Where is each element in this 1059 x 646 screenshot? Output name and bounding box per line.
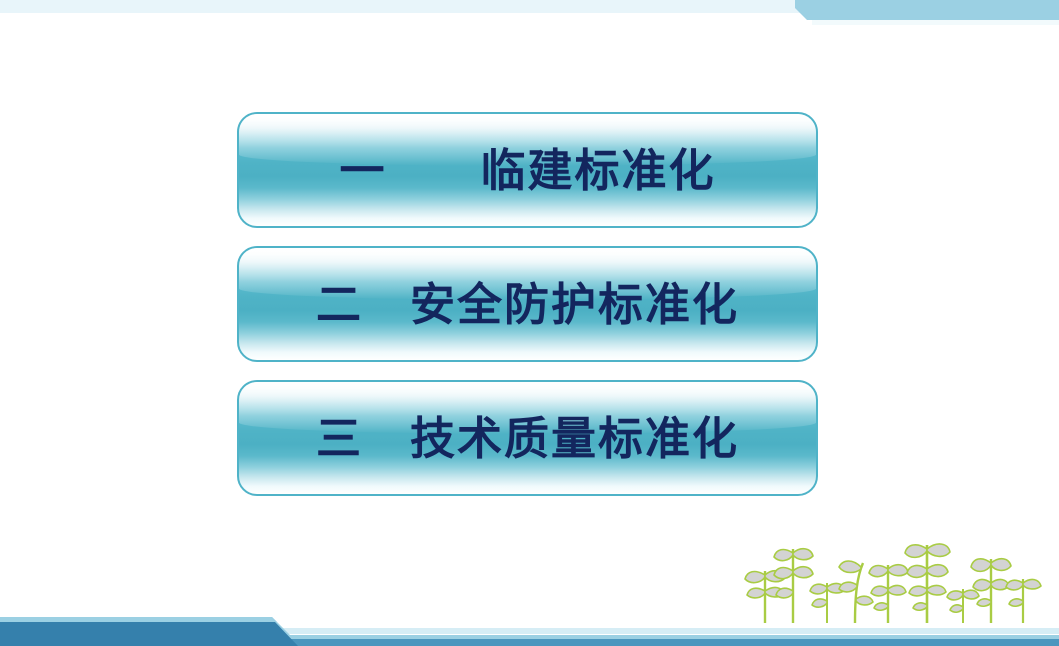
menu-button-stack: 一 临建标准化 二 安全防护标准化 三 技术质量标准化 [237, 112, 818, 514]
top-accent-bar [0, 0, 1059, 30]
sprout-c [810, 583, 845, 623]
sprout-i [1006, 579, 1041, 623]
bottom-accent-bar [0, 600, 1059, 646]
menu-item-3[interactable]: 三 技术质量标准化 [237, 380, 818, 496]
sprout-decoration [743, 535, 1043, 623]
menu-item-2-label: 二 安全防护标准化 [316, 282, 739, 327]
menu-item-1[interactable]: 一 临建标准化 [237, 112, 818, 228]
bottom-bar-pale-wash [0, 628, 1059, 634]
top-bar-wash [812, 20, 1059, 25]
sprout-d [839, 561, 873, 623]
menu-item-1-label: 一 临建标准化 [339, 148, 715, 193]
sprout-e [869, 565, 908, 623]
sprout-g [947, 589, 979, 623]
slide-canvas: 一 临建标准化 二 安全防护标准化 三 技术质量标准化 [0, 0, 1059, 646]
sprout-f [905, 544, 950, 623]
sprout-a [745, 571, 785, 623]
sprout-h [971, 559, 1011, 623]
menu-item-2[interactable]: 二 安全防护标准化 [237, 246, 818, 362]
bottom-bar-dark-highlight [0, 617, 277, 622]
bottom-bar-mid-strip [290, 639, 1059, 646]
top-bar-pale-band [0, 0, 812, 13]
top-bar-light-band [795, 0, 1059, 20]
bottom-bar-light-band [0, 617, 1059, 646]
menu-item-3-label: 三 技术质量标准化 [316, 416, 739, 461]
bottom-bar-dark-block [0, 622, 298, 646]
sprout-b [774, 549, 813, 623]
